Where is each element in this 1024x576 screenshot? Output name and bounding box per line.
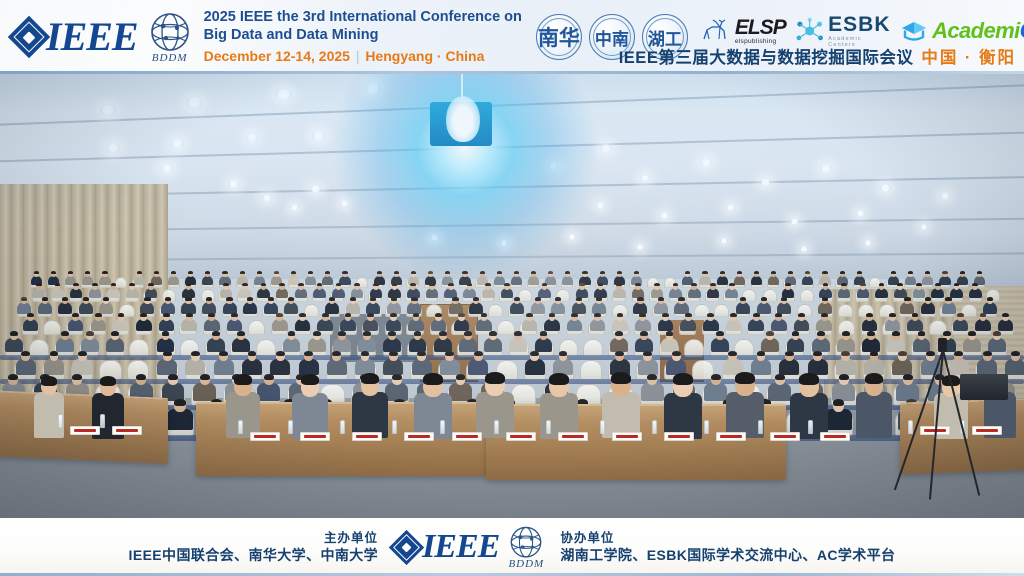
audience-member-hair (740, 297, 746, 301)
audience-member (638, 359, 658, 375)
audience-member-hair (582, 271, 587, 274)
audience-member-hair (925, 297, 931, 301)
audience-member-hair (753, 313, 760, 317)
audience-member-hair (136, 374, 146, 380)
front-row-vip-hair (485, 372, 505, 384)
audience-member-hair (822, 297, 828, 301)
projector-bulb-flare (446, 96, 480, 142)
audience-member-hair (617, 313, 624, 317)
audience-member-hair (373, 283, 379, 287)
audience-member-hair (338, 331, 346, 336)
name-card-text (668, 435, 690, 438)
audience-member-hair (678, 297, 684, 301)
audience-member-hair (908, 271, 913, 274)
audience-member (44, 359, 64, 375)
audience-member-hair (918, 331, 926, 336)
audience-member-hair (945, 297, 951, 301)
audience-member (469, 302, 483, 313)
audience-member-hair (68, 271, 73, 274)
audience-member (836, 359, 856, 375)
auditorium-seat (29, 339, 49, 356)
audience-member (257, 383, 280, 401)
audience-member-hair (264, 374, 274, 380)
audience-member-hair (766, 331, 774, 336)
water-bottle (908, 420, 913, 434)
audience-member-hair (571, 313, 578, 317)
audience-member (757, 302, 771, 313)
audience-member-hair (867, 331, 875, 336)
audience-member-hair (288, 297, 294, 301)
name-card-text (774, 435, 796, 438)
audience-member-hair (458, 313, 465, 317)
header-banner: IEEE BDDM 2025 IEEE the 3rd Internati (0, 0, 1024, 74)
audience-member-hair (813, 351, 822, 356)
audience-member-hair (72, 374, 82, 380)
audience-member-hair (377, 271, 382, 274)
audience-member (99, 302, 113, 313)
audience-member-hair (439, 331, 447, 336)
bddm-wordmark: BDDM (508, 558, 544, 570)
audience-member (327, 359, 347, 375)
name-card-text (408, 435, 430, 438)
audience-member-hair (186, 313, 193, 317)
name-card-text (720, 435, 742, 438)
conference-banner-page: IEEE BDDM 2025 IEEE the 3rd Internati (0, 0, 1024, 576)
audience-member (832, 383, 855, 401)
audience-member-hair (473, 297, 479, 301)
audience-member (900, 302, 914, 313)
audience-member-hair (163, 313, 170, 317)
audience-member-hair (775, 313, 782, 317)
audience-member (270, 359, 290, 375)
audience-member-hair (212, 331, 220, 336)
audience-member-hair (792, 331, 800, 336)
audience-member-hair (1002, 313, 1009, 317)
water-bottle (238, 420, 243, 434)
audience-member-hair (912, 313, 919, 317)
audience-member-hair (51, 271, 56, 274)
audience-member-hair (231, 313, 238, 317)
audience-member-hair (903, 374, 913, 380)
audience-member-hair (34, 271, 39, 274)
audience-member-hair (474, 351, 483, 356)
audience-member-hair (555, 297, 561, 301)
audience-member-hair (840, 271, 845, 274)
audience-member-hair (391, 297, 397, 301)
audience-member-hair (452, 297, 458, 301)
water-bottle (546, 420, 551, 434)
audience-member-hair (462, 271, 467, 274)
audience-member (214, 359, 234, 375)
auditorium-seat (684, 339, 704, 356)
audience-member (440, 359, 460, 375)
footer-ieee-logo: IEEE BDDM (394, 525, 544, 570)
audience-member-hair (200, 374, 210, 380)
elsp-wordmark-block: ELSP elspublishing (735, 17, 786, 46)
audience-member-hair (615, 351, 624, 356)
audience-member-hair (960, 271, 965, 274)
name-card-text (304, 435, 326, 438)
audience-member-hair (530, 351, 539, 356)
audience-member-hair (140, 313, 147, 317)
audience-member (72, 359, 92, 375)
conference-group-photo (0, 74, 1024, 518)
audience-member-hair (168, 374, 178, 380)
water-bottle (758, 420, 763, 434)
audience-member-hair (174, 399, 185, 406)
audience-member-hair (36, 283, 42, 287)
audience-member-hair (370, 297, 376, 301)
audience-member-hair (345, 313, 352, 317)
audience-member-hair (637, 297, 643, 301)
audience-member-hair (86, 331, 94, 336)
audience-member-hair (111, 331, 119, 336)
audience-member-hair (78, 351, 87, 356)
audience-member-hair (798, 313, 805, 317)
audience-member-hair (392, 374, 402, 380)
auditorium-seat (304, 304, 320, 318)
audience-member-hair (445, 351, 454, 356)
audience-member-hair (257, 271, 262, 274)
vip-name-card (612, 432, 642, 441)
vip-name-card (770, 432, 800, 441)
audience-member-hair (833, 399, 844, 406)
audience-member-hair (817, 331, 825, 336)
audience-member-hair (935, 283, 941, 287)
auditorium-seat (714, 304, 730, 318)
conference-title-line1: 2025 IEEE the 3rd International Conferen… (204, 9, 522, 27)
audience-member-hair (904, 297, 910, 301)
cohost-organizations-block: 协办单位 湖南工学院、ESBK国际学术交流中心、AC学术平台 (560, 530, 895, 564)
audience-member-hair (95, 313, 102, 317)
bddm-logo: BDDM (148, 11, 192, 64)
esbk-wordmark-block: ESBK Academic Centers (828, 14, 891, 48)
front-row-vip (856, 392, 892, 438)
audience-member-hair (417, 351, 426, 356)
audience-member-hair (276, 313, 283, 317)
audience-member-hair (771, 271, 776, 274)
auditorium-seat (488, 304, 504, 318)
audience-member-hair (535, 297, 541, 301)
audience-member-hair (775, 374, 785, 380)
audience-member-hair (206, 297, 212, 301)
audience-member-hair (144, 297, 150, 301)
front-row-vip-hair (100, 376, 117, 386)
audience-member-hair (188, 271, 193, 274)
audience-member-hair (361, 351, 370, 356)
vip-name-card (300, 432, 330, 441)
audience-member-hair (394, 271, 399, 274)
audience-member (983, 302, 997, 313)
audience-member-hair (821, 313, 828, 317)
water-bottle (340, 420, 345, 434)
audience-member-hair (329, 297, 335, 301)
name-card-text (254, 435, 276, 438)
audience-member (299, 359, 319, 375)
date-location-separator: | (354, 48, 362, 64)
audience-member-hair (781, 297, 787, 301)
audience-member-hair (480, 271, 485, 274)
audience-member-hair (162, 331, 170, 336)
auditorium-seat (838, 304, 854, 318)
audience-member (16, 359, 36, 375)
audience-member-hair (118, 313, 125, 317)
audience-member-hair (842, 331, 850, 336)
audience-member-hair (993, 331, 1001, 336)
front-row-vip-hair (735, 372, 755, 384)
vip-name-card (352, 432, 382, 441)
audience-member-hair (191, 351, 200, 356)
audience-member (551, 302, 565, 313)
audience-member-hair (737, 271, 742, 274)
audience-member (751, 359, 771, 375)
auditorium-seat (115, 277, 127, 289)
front-row-vip-hair (423, 373, 443, 385)
audience-member-hair (531, 271, 536, 274)
audience-member-hair (411, 271, 416, 274)
audience-member-hair (103, 297, 109, 301)
audience-member-hair (268, 297, 274, 301)
auditorium-seat (129, 339, 149, 356)
audience-member-hair (540, 331, 548, 336)
audience-member (383, 359, 403, 375)
front-row-vip-hair (301, 374, 320, 385)
audience-member-hair (72, 313, 79, 317)
audience-member (243, 302, 257, 313)
audience-member (704, 383, 727, 401)
vip-name-card (558, 432, 588, 441)
ieee-diamond-icon (389, 529, 424, 564)
audience-member-hair (504, 283, 510, 287)
audience-member-hair (21, 297, 27, 301)
audience-member-hair (62, 297, 68, 301)
audience-member-hair (857, 271, 862, 274)
audience-member-hair (102, 271, 107, 274)
footer-bddm-logo: BDDM (508, 525, 544, 570)
audience-member-hair (171, 271, 176, 274)
vip-name-card (70, 426, 100, 435)
host-organizations: IEEE中国联合会、南华大学、中南大学 (129, 546, 379, 564)
audience-member-hair (208, 313, 215, 317)
vip-name-card (664, 432, 694, 441)
academicenter-wordmark: AcademiCenter (932, 20, 1024, 42)
audience-member-hair (363, 331, 371, 336)
audience-member-hair (27, 313, 34, 317)
audience-member (202, 302, 216, 313)
front-row-vip-hair (234, 374, 252, 385)
academicenter-word-blue: Center (1020, 18, 1024, 43)
audience-member-hair (222, 271, 227, 274)
audience-member (1005, 359, 1024, 375)
audience-member-hair (730, 313, 737, 317)
audience-member-hair (390, 313, 397, 317)
audience-member-hair (276, 351, 285, 356)
audience-member-hair (658, 297, 664, 301)
audience-member-hair (716, 331, 724, 336)
chinese-location: 中国 · 衡阳 (921, 44, 1016, 68)
audience-member-hair (342, 271, 347, 274)
audience-member (779, 359, 799, 375)
ieee-wordmark: IEEE (46, 17, 138, 57)
audience-member (38, 302, 52, 313)
auditorium-seat (580, 360, 602, 380)
audience-member-hair (647, 374, 657, 380)
audience-member-hair (240, 271, 245, 274)
audience-member-hair (274, 271, 279, 274)
audience-member-hair (165, 297, 171, 301)
audience-member-hair (332, 351, 341, 356)
vip-name-card (716, 432, 746, 441)
audience-member (167, 409, 194, 430)
audience-member-hair (50, 351, 59, 356)
name-card-text (562, 435, 584, 438)
vip-name-card (820, 432, 850, 441)
front-row-vip-hair (673, 373, 693, 385)
front-row-vip-hair (361, 373, 380, 384)
audience-member (468, 359, 488, 375)
audience-member-hair (414, 331, 422, 336)
audience-member-hair (304, 351, 313, 356)
vip-name-card (506, 432, 536, 441)
name-card-text (74, 429, 96, 432)
audience-member-hair (576, 297, 582, 301)
audience-member-hair (754, 271, 759, 274)
chinese-conference-title: IEEE第三届大数据与数据挖掘国际会议 (619, 44, 914, 68)
conference-date: December 12-14, 2025 (204, 48, 350, 64)
audience-member-hair (672, 351, 681, 356)
audience-member-hair (514, 331, 522, 336)
audience-member (736, 302, 750, 313)
name-card-text (824, 435, 846, 438)
front-row-vip-hair (41, 376, 57, 385)
audience-member-hair (237, 331, 245, 336)
name-card-text (116, 429, 138, 432)
audience-member-hair (481, 313, 488, 317)
audience-member-hair (247, 297, 253, 301)
front-row-vip-hair (549, 373, 569, 385)
ieee-wordmark: IEEE (422, 530, 499, 564)
audience-member-hair (757, 351, 766, 356)
conference-title-line2: Big Data and Data Mining (204, 27, 522, 45)
audience-member-hair (526, 313, 533, 317)
audience-member-hair (137, 271, 142, 274)
audience-member (385, 383, 408, 401)
audience-member-hair (870, 351, 879, 356)
front-row-vip-hair (799, 373, 819, 385)
audience-member-hair (514, 297, 520, 301)
water-bottle (58, 414, 63, 428)
audience-member-hair (639, 313, 646, 317)
audience-member-hair (489, 331, 497, 336)
bddm-globe-icon (508, 525, 544, 561)
audience-member-hair (92, 283, 98, 287)
audience-member-hair (822, 271, 827, 274)
audience-member-hair (448, 283, 454, 287)
audience-member-hair (548, 271, 553, 274)
audience-member-hair (654, 283, 660, 287)
audience-member-hair (666, 331, 674, 336)
auditorium-seat (800, 289, 814, 302)
ieee-logo: IEEE (14, 17, 138, 57)
audience-member-hair (313, 331, 321, 336)
cohost-organizations: 湖南工学院、ESBK国际学术交流中心、AC学术平台 (560, 546, 895, 564)
camera-tripod (916, 338, 976, 498)
audience-member-hair (223, 283, 229, 287)
audience-member-hair (288, 331, 296, 336)
audience-member-hair (977, 271, 982, 274)
esbk-molecule-icon (794, 17, 825, 45)
chinese-subtitle-block: IEEE第三届大数据与数据挖掘国际会议 中国 · 衡阳 (619, 44, 1016, 68)
audience-member-hair (219, 351, 228, 356)
vip-name-card (452, 432, 482, 441)
academicenter-word-green: Academi (932, 18, 1020, 43)
audience-member (525, 359, 545, 375)
audience-member-hair (1011, 351, 1020, 356)
water-bottle (494, 420, 499, 434)
bddm-globe-icon (148, 11, 192, 55)
audience-member (641, 383, 664, 401)
audience-member-hair (298, 283, 304, 287)
footer-banner: 主办单位 IEEE中国联合会、南华大学、中南大学 IEEE BDDM (0, 518, 1024, 576)
audience-member-hair (785, 351, 794, 356)
audience-member (161, 302, 175, 313)
host-organizations-block: 主办单位 IEEE中国联合会、南华大学、中南大学 (129, 530, 379, 564)
audience-member-hair (308, 271, 313, 274)
vip-name-card (112, 426, 142, 435)
audience-member (325, 302, 339, 313)
water-bottle (808, 420, 813, 434)
audience-member (58, 302, 72, 313)
audience-member-hair (322, 313, 329, 317)
water-bottle (288, 420, 293, 434)
audience-member-hair (596, 297, 602, 301)
auditorium-seat (256, 339, 276, 356)
audience-member-hair (615, 331, 623, 336)
audience-member-hair (185, 297, 191, 301)
audience-member-hair (8, 374, 18, 380)
audience-member-hair (435, 313, 442, 317)
audience-member (825, 409, 852, 430)
audience-member (592, 302, 606, 313)
conference-location: Hengyang · China (365, 48, 484, 64)
deer-icon (698, 18, 732, 44)
university-of-south-china-seal: 南华 (536, 14, 582, 60)
audience-member-hair (42, 297, 48, 301)
cohost-label: 协办单位 (560, 530, 895, 546)
audience-member-hair (21, 351, 30, 356)
audience-member (193, 383, 216, 401)
audience-member (157, 359, 177, 375)
audience-member-hair (61, 331, 69, 336)
audience-member-hair (860, 283, 866, 287)
water-bottle (392, 420, 397, 434)
audience-member-hair (707, 313, 714, 317)
sponsor-logo-group: ELSP elspublishing ESB (698, 14, 1024, 48)
esbk-wordmark: ESBK (828, 14, 891, 35)
audience-member-hair (428, 271, 433, 274)
audience-member (185, 359, 205, 375)
audience-member-hair (729, 283, 735, 287)
auditorium-seat (583, 339, 603, 356)
audience-member-hair (702, 271, 707, 274)
audience-member-hair (367, 313, 374, 317)
audience-member-hair (640, 331, 648, 336)
audience-member-hair (299, 313, 306, 317)
audience-member-hair (942, 271, 947, 274)
audience-member-hair (411, 297, 417, 301)
auditorium-seat (43, 320, 60, 335)
audience-member-hair (943, 331, 951, 336)
